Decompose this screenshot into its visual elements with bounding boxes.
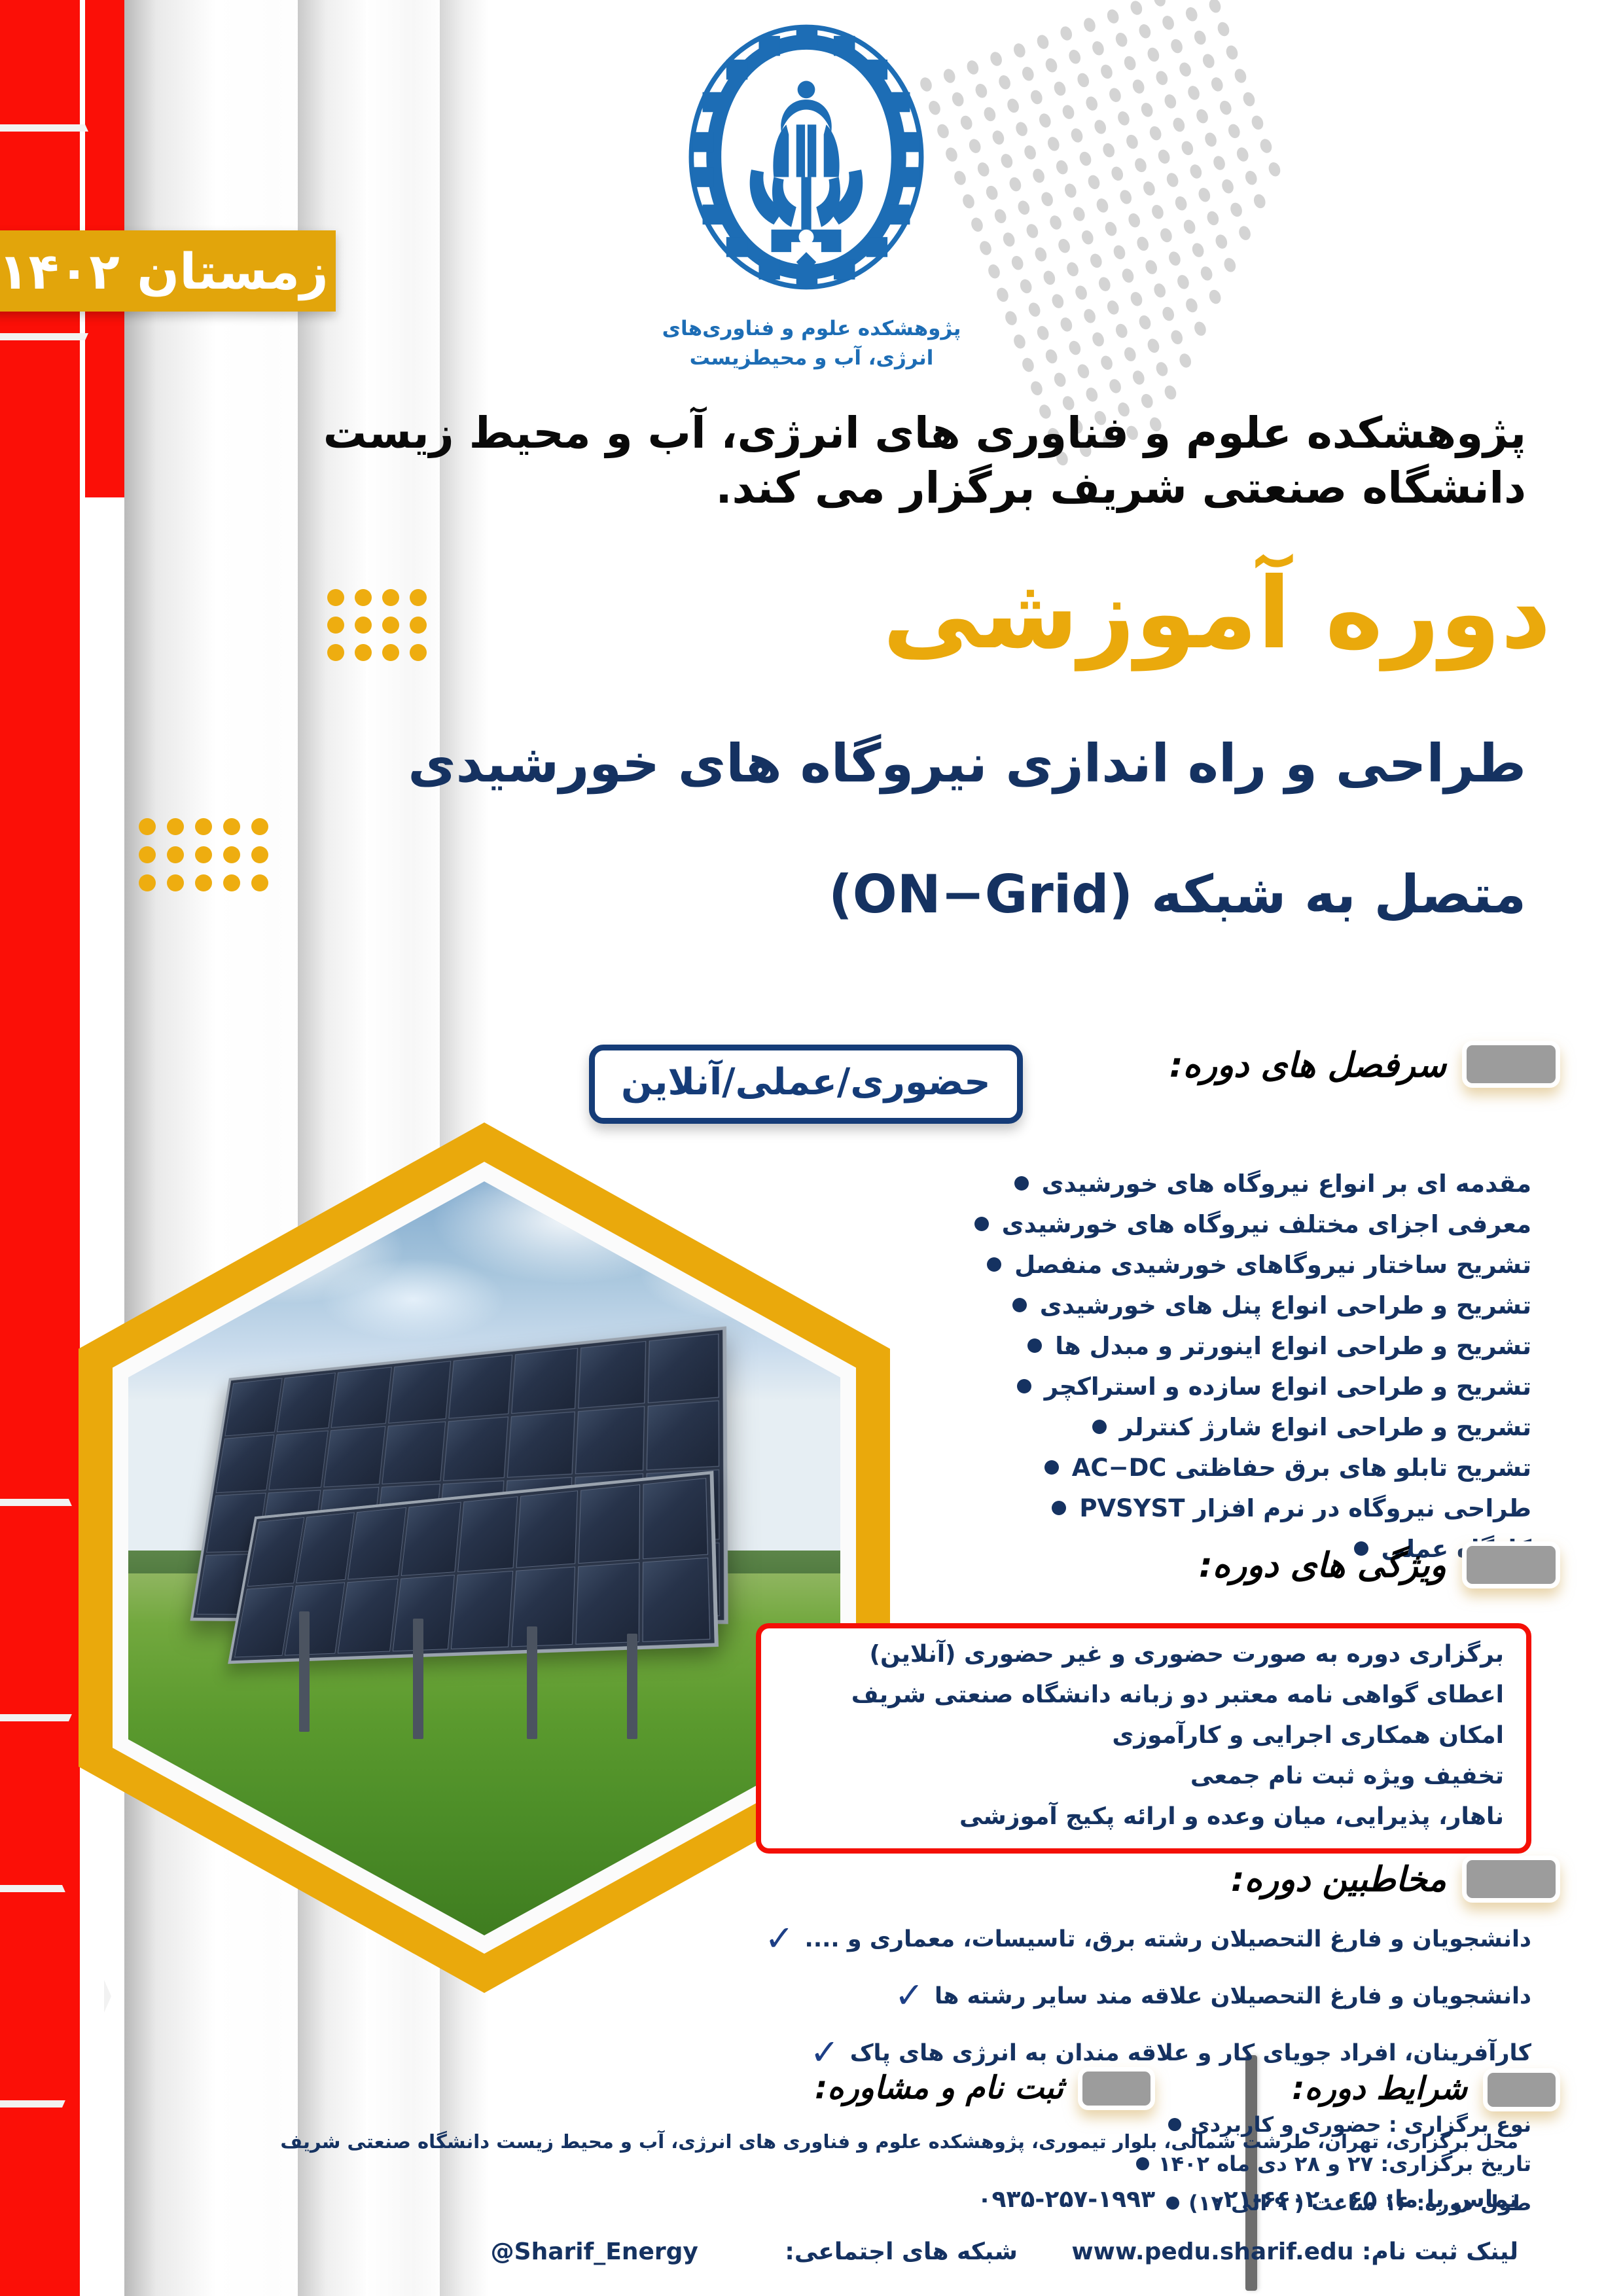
conditions-heading: شرایط دوره: <box>1292 2070 1467 2107</box>
decor-dot <box>1120 267 1135 284</box>
decor-dot <box>976 161 991 178</box>
decor-dot <box>355 589 372 606</box>
decor-dot <box>1224 44 1240 61</box>
decor-dot <box>1137 23 1152 40</box>
topic-list-item: تشریح و طراحی انواع پنل های خورشیدی <box>746 1293 1531 1318</box>
solar-cell <box>450 1571 513 1650</box>
decor-dot <box>1118 188 1133 206</box>
decor-dot <box>944 146 959 163</box>
decor-dot <box>1003 310 1018 327</box>
decor-dot <box>1267 160 1282 177</box>
decor-dot <box>1131 78 1146 95</box>
decor-dot <box>1192 29 1207 46</box>
decor-dot <box>1052 371 1067 388</box>
decor-dot <box>967 137 982 154</box>
bg-panel-3 <box>298 0 370 2296</box>
decor-dot <box>1154 69 1169 86</box>
decor-dot <box>1020 65 1035 82</box>
contact-phone-2[interactable]: ۰۹۳۵-۲۵۷-۱۹۹۳ <box>978 2186 1156 2213</box>
decor-dot <box>1169 329 1184 346</box>
solar-cell <box>393 1575 455 1652</box>
panel-post <box>299 1611 310 1732</box>
decor-dot <box>1148 124 1163 141</box>
decor-dot <box>1137 314 1152 331</box>
logo-caption-line-1: پژوهشکده علوم و فناوری‌های <box>628 314 995 344</box>
solar-cell <box>216 1435 274 1494</box>
decor-dot <box>167 846 184 863</box>
topics-heading-chip <box>1462 1041 1560 1088</box>
decor-dot <box>1076 363 1091 380</box>
audience-heading-chip <box>1462 1856 1560 1903</box>
course-topics-list: مقدمه ای بر انواع نیروگاه های خورشیدیمعر… <box>746 1172 1531 1577</box>
decor-dot <box>1163 384 1178 401</box>
organizer-announcement: پژوهشکده علوم و فناوری های انرژی، آب و م… <box>283 406 1526 516</box>
solar-cell <box>575 1562 640 1645</box>
solar-cell <box>331 1367 392 1428</box>
decor-dot <box>223 846 240 863</box>
decor-dot <box>1101 141 1116 158</box>
decor-dot <box>1065 260 1080 278</box>
decor-dot <box>1050 293 1065 310</box>
decor-dot <box>988 50 1003 67</box>
decor-dot <box>969 216 984 233</box>
solar-cell <box>648 1334 719 1403</box>
decor-dot <box>1122 346 1137 363</box>
decor-dot <box>1025 223 1040 240</box>
decor-dot <box>167 818 184 835</box>
decor-dot <box>1218 99 1233 116</box>
topic-list-item: طراحی نیروگاه در نرم افزار PVSYST <box>746 1496 1531 1520</box>
decor-dot <box>1039 190 1054 207</box>
decor-dot <box>984 184 999 201</box>
decor-dot <box>382 589 399 606</box>
decor-dot <box>1184 6 1199 23</box>
solar-cell <box>348 1507 406 1580</box>
decor-dot <box>1099 354 1114 371</box>
solar-cell <box>512 1348 579 1414</box>
decor-dot <box>1129 0 1144 16</box>
decor-dot <box>1001 231 1016 248</box>
contact-phone-row: تماس با ما: ۰۲۱-۶۶۰۲۰۰۶۵ ۰۹۳۵-۲۵۷-۱۹۹۳ <box>376 2186 1518 2213</box>
registration-heading-chip <box>1078 2067 1155 2110</box>
solar-cell <box>516 1491 578 1568</box>
decor-dot <box>1177 352 1192 369</box>
registration-heading: ثبت نام و مشاوره: <box>815 2070 1063 2106</box>
solar-cell <box>443 1416 508 1481</box>
decor-dot <box>952 170 967 187</box>
decor-dot <box>1082 16 1097 33</box>
course-subtitle-line-1: طراحی و راه اندازی نیروگاه های خورشیدی <box>217 733 1526 795</box>
conditions-heading-chip <box>1483 2068 1560 2111</box>
features-heading-chip <box>1462 1541 1560 1588</box>
decor-dot <box>1177 61 1192 78</box>
logo-caption-line-2: انرژی، آب و محیطزیست <box>628 344 995 373</box>
decor-dot <box>1207 0 1222 14</box>
decor-dot <box>1012 42 1027 59</box>
decor-dot <box>1058 25 1073 42</box>
decor-dot <box>1220 177 1235 194</box>
registration-link-label: لینک ثبت نام: <box>1362 2238 1518 2265</box>
decor-dot <box>1044 57 1059 74</box>
decor-dot <box>1143 259 1158 276</box>
topic-list-item: تشریح و طراحی انواع اینورتر و مبدل ها <box>746 1334 1531 1358</box>
poster-root: زمستان ۱۴۰۲ <box>0 0 1623 2296</box>
decor-dot <box>1095 197 1110 214</box>
decor-dot <box>1080 228 1095 245</box>
decor-dot <box>1107 378 1122 395</box>
solar-cell <box>382 1422 445 1485</box>
decor-dot <box>1184 296 1199 314</box>
decor-dot <box>1114 322 1129 339</box>
decor-dot <box>139 818 156 835</box>
decor-dot <box>1209 76 1224 93</box>
feature-list-item: تخفیف ویژه ثبت نام جمعی <box>783 1765 1504 1788</box>
solar-cell <box>507 1412 575 1479</box>
decor-dot <box>1107 86 1122 103</box>
course-features-box: برگزاری دوره به صورت حضوری و غیر حضوری (… <box>756 1623 1531 1854</box>
decor-dot <box>251 818 268 835</box>
topic-list-item: معرفی اجزای مختلف نیروگاه های خورشیدی <box>746 1212 1531 1236</box>
decor-dot <box>1211 154 1226 171</box>
decor-dot <box>1022 144 1037 161</box>
solar-cell <box>642 1558 709 1643</box>
decor-dot <box>1078 150 1093 167</box>
course-audience-list: دانشجویان و فارغ التحصیلان رشته برق، تاس… <box>740 1921 1531 2092</box>
decor-dot <box>1165 171 1180 188</box>
decor-dot <box>1126 211 1141 228</box>
decor-dot <box>1228 201 1243 218</box>
decor-dot <box>1097 276 1112 293</box>
decor-dot <box>1037 112 1052 129</box>
decor-dot <box>410 589 427 606</box>
decor-dot <box>1069 127 1084 144</box>
decor-dot <box>1222 257 1238 274</box>
year-season-banner: زمستان ۱۴۰۲ <box>0 230 336 312</box>
decor-dot <box>1152 282 1167 299</box>
decor-dot <box>974 82 989 99</box>
decor-dot <box>1152 0 1167 8</box>
decor-dot <box>1135 235 1150 252</box>
decor-dot <box>1109 165 1124 182</box>
solar-cell <box>643 1478 707 1559</box>
solar-cell <box>324 1426 386 1488</box>
decor-dot <box>1061 103 1076 120</box>
solar-cell <box>247 1517 304 1587</box>
decor-dot <box>1029 88 1044 105</box>
decor-dot <box>1129 291 1144 308</box>
solar-cell <box>337 1579 398 1654</box>
decor-dot <box>1141 180 1156 197</box>
decor-dot <box>1008 175 1023 192</box>
decor-dot <box>1192 320 1207 337</box>
sharif-university-logo <box>669 20 944 295</box>
decor-dot <box>1252 192 1267 209</box>
feature-list-item: اعطای گواهی نامه معتبر دو زبانه دانشگاه … <box>783 1683 1504 1707</box>
decor-dot <box>959 114 974 131</box>
decor-dot <box>355 644 372 661</box>
decor-dot <box>1014 120 1029 137</box>
decor-dot <box>965 59 980 76</box>
page-title: دوره آموزشی <box>700 563 1551 666</box>
decor-dot <box>1044 348 1059 365</box>
decor-dot <box>1103 220 1118 237</box>
solar-cell <box>578 1484 640 1564</box>
solar-cell <box>388 1361 451 1424</box>
decor-dot <box>382 644 399 661</box>
decor-dot <box>1092 118 1107 135</box>
decor-dot <box>1071 206 1086 223</box>
decor-dot <box>961 192 976 209</box>
decor-dot <box>1207 288 1222 305</box>
decor-dot <box>1124 133 1139 150</box>
decor-dot <box>1235 146 1250 163</box>
decor-dot <box>1086 173 1101 190</box>
topic-list-item: تشریح و طراحی انواع شارژ کنترلر <box>746 1415 1531 1439</box>
decor-dot <box>999 152 1014 170</box>
decor-dot <box>410 617 427 634</box>
yellow-dot-pattern-upper <box>327 589 432 674</box>
decor-dot <box>942 67 957 84</box>
decor-dot <box>1122 54 1137 71</box>
decor-dot <box>1020 356 1035 373</box>
decor-dot <box>1226 122 1241 139</box>
decor-dot <box>1031 167 1046 184</box>
solar-cell <box>277 1373 336 1433</box>
decor-dot <box>1139 101 1154 118</box>
decor-dot <box>982 105 997 122</box>
decor-dot <box>1052 80 1067 97</box>
decor-dot <box>995 286 1010 303</box>
feature-list-item: برگزاری دوره به صورت حضوری و غیر حضوری (… <box>783 1643 1504 1666</box>
decor-dot <box>327 617 344 634</box>
organizer-line-1: پژوهشکده علوم و فناوری های انرژی، آب و م… <box>283 406 1526 461</box>
decor-dot <box>1205 209 1221 226</box>
decor-dot <box>1146 337 1161 354</box>
decor-dot <box>1016 199 1031 216</box>
social-networks-label: شبکه های اجتماعی: <box>785 2238 1017 2265</box>
bg-panel-1 <box>124 0 216 2296</box>
decor-dot <box>1146 46 1161 63</box>
decor-dot <box>1203 131 1218 148</box>
decor-dot <box>1056 237 1071 254</box>
solar-cell <box>647 1401 719 1471</box>
solar-cell <box>234 1586 294 1658</box>
decor-dot <box>1046 135 1061 152</box>
decor-dot <box>195 846 212 863</box>
audience-list-item: کارآفرینان، افراد جویای کار و علاقه مندا… <box>740 2035 1531 2070</box>
decor-dot <box>1167 250 1182 267</box>
decor-dot <box>978 240 993 257</box>
decor-dot <box>382 617 399 634</box>
decor-dot <box>355 617 372 634</box>
decor-dot <box>223 818 240 835</box>
solar-cell <box>578 1341 647 1408</box>
decor-dot <box>1073 284 1088 301</box>
decor-dot <box>1188 163 1204 180</box>
topic-list-item: مقدمه ای بر انواع نیروگاه های خورشیدی <box>746 1172 1531 1196</box>
registration-website-link[interactable]: www.pedu.sharif.edu <box>1071 2238 1353 2265</box>
solar-cell <box>575 1406 645 1475</box>
decor-dot <box>1156 148 1171 165</box>
decor-dot <box>1088 252 1103 269</box>
decor-dot <box>1169 37 1184 54</box>
decor-dot <box>1029 380 1044 397</box>
course-subtitle-line-2: متصل به شبکه (ON−Grid) <box>217 864 1526 925</box>
solar-cell <box>268 1431 329 1491</box>
decor-dot <box>1090 40 1105 57</box>
panel-post <box>627 1634 637 1739</box>
decor-dot <box>1059 316 1074 333</box>
decor-dot <box>1190 242 1205 259</box>
decor-dot <box>167 874 184 891</box>
contact-phone-1[interactable]: ۰۲۱-۶۶۰۲۰۰۶۵ <box>1209 2186 1378 2213</box>
decor-dot <box>1005 97 1020 114</box>
decor-dot <box>1194 107 1209 124</box>
decor-dot <box>1199 265 1214 282</box>
bg-panel-2 <box>216 0 301 2296</box>
solar-cell <box>401 1502 461 1576</box>
decor-dot <box>1084 386 1099 403</box>
decor-dot <box>1258 137 1274 154</box>
solar-cell <box>457 1496 518 1572</box>
decor-dot <box>1018 278 1033 295</box>
decor-dot <box>1201 52 1216 69</box>
audience-list-item: دانشجویان و فارغ التحصیلان علاقه مند سای… <box>740 1978 1531 2013</box>
decor-dot <box>1035 33 1050 50</box>
decor-dot <box>139 874 156 891</box>
solar-cell <box>448 1355 512 1419</box>
decor-dot <box>1158 226 1173 243</box>
decor-dot <box>1033 245 1048 262</box>
decor-dot <box>1090 331 1105 348</box>
topic-list-item: تشریح و طراحی انواع سازده و استراکچر <box>746 1374 1531 1399</box>
decor-dot <box>1105 8 1120 25</box>
decor-dot <box>1027 301 1042 318</box>
decor-dot <box>1241 90 1257 107</box>
decor-dot <box>1035 325 1050 342</box>
decor-dot <box>991 129 1006 146</box>
decor-dot <box>1186 84 1201 101</box>
decor-dot <box>1112 243 1127 260</box>
decor-dot <box>1197 186 1212 203</box>
audience-list-item: دانشجویان و فارغ التحصیلان رشته برق، تاس… <box>740 1921 1531 1956</box>
solar-cell <box>511 1567 575 1648</box>
decor-dot <box>1114 31 1129 48</box>
solar-cell <box>285 1583 345 1657</box>
decor-dot <box>1250 114 1265 131</box>
decor-dot <box>986 262 1001 279</box>
decor-dot <box>139 846 156 863</box>
decor-dot <box>327 644 344 661</box>
feature-list-item: ناهار، پذیرایی، میان وعده و ارائه پکیج آ… <box>783 1805 1504 1829</box>
decor-dot <box>1243 169 1258 186</box>
decor-dot <box>1214 233 1229 250</box>
decor-dot <box>1012 333 1027 350</box>
decor-dot <box>1182 218 1197 235</box>
decor-dot <box>1160 14 1175 31</box>
decor-dot <box>1160 305 1175 322</box>
decor-dot <box>993 207 1008 224</box>
decor-dot <box>410 644 427 661</box>
decor-dot <box>1105 299 1120 316</box>
decor-dot <box>1067 48 1082 65</box>
decor-dot <box>1063 182 1078 199</box>
hexagon-outline-decor-bottom <box>0 1885 111 2108</box>
decor-dot <box>1116 110 1131 127</box>
decor-dot <box>1154 361 1169 378</box>
decor-dot <box>1133 156 1148 173</box>
delivery-mode-badge: حضوری/عملی/آنلاین <box>589 1045 1023 1124</box>
topics-heading: سرفصل های دوره: <box>1169 1046 1446 1085</box>
decor-dot <box>327 589 344 606</box>
panel-post <box>413 1619 423 1739</box>
decor-dot <box>1180 139 1195 156</box>
decor-dot <box>1067 339 1082 356</box>
decor-dot <box>950 91 965 108</box>
decor-dot <box>1171 116 1186 133</box>
decor-dot <box>1237 224 1252 242</box>
decor-dot <box>1048 214 1063 231</box>
decor-dot <box>1075 71 1090 88</box>
solar-cell <box>296 1513 354 1583</box>
decor-dot <box>1084 95 1099 112</box>
condition-list-item: تاریخ برگزاری: ۲۷ و ۲۸ دی ماه ۱۴۰۲ <box>1014 2153 1531 2174</box>
logo-caption: پژوهشکده علوم و فناوری‌های انرژی، آب و م… <box>628 314 995 373</box>
social-handle-link[interactable]: @Sharif_Energy <box>491 2238 698 2265</box>
decor-dot <box>1163 93 1178 110</box>
solar-cell <box>225 1378 283 1437</box>
decor-dot <box>1010 254 1025 271</box>
decor-dot <box>195 818 212 835</box>
decor-dot <box>1150 203 1165 220</box>
decor-dot <box>1099 63 1114 80</box>
decor-dot <box>1082 308 1097 325</box>
decor-dot <box>195 874 212 891</box>
contact-phone-label: تماس با ما: <box>1385 2186 1518 2213</box>
panel-post <box>527 1626 537 1740</box>
decor-dot <box>997 74 1012 91</box>
feature-list-item: امکان همکاری اجرایی و کارآموزی <box>783 1724 1504 1748</box>
decor-dot <box>1216 20 1231 37</box>
venue-address: محل برگزاری، تهران، طرشت شمالی، بلوار تی… <box>380 2130 1518 2153</box>
decor-dot <box>1131 369 1146 386</box>
decor-dot <box>1233 67 1248 84</box>
decor-dot <box>251 846 268 863</box>
registration-link-row: لینک ثبت نام: www.pedu.sharif.edu شبکه ه… <box>376 2238 1518 2265</box>
organizer-line-2: دانشگاه صنعتی شریف برگزار می کند. <box>283 461 1526 516</box>
topic-list-item: تشریح تابلو های برق حفاظتی AC−DC <box>746 1456 1531 1480</box>
decor-dot <box>1175 274 1190 291</box>
decor-dot <box>1042 269 1057 286</box>
decor-dot <box>1054 158 1069 175</box>
features-heading: ویژگی های دوره: <box>1199 1546 1446 1585</box>
topic-list-item: تشریح ساختار نیروگاهای خورشیدی منفصل <box>746 1253 1531 1277</box>
decor-dot <box>1173 194 1188 211</box>
audience-heading: مخاطبین دوره: <box>1231 1860 1446 1899</box>
